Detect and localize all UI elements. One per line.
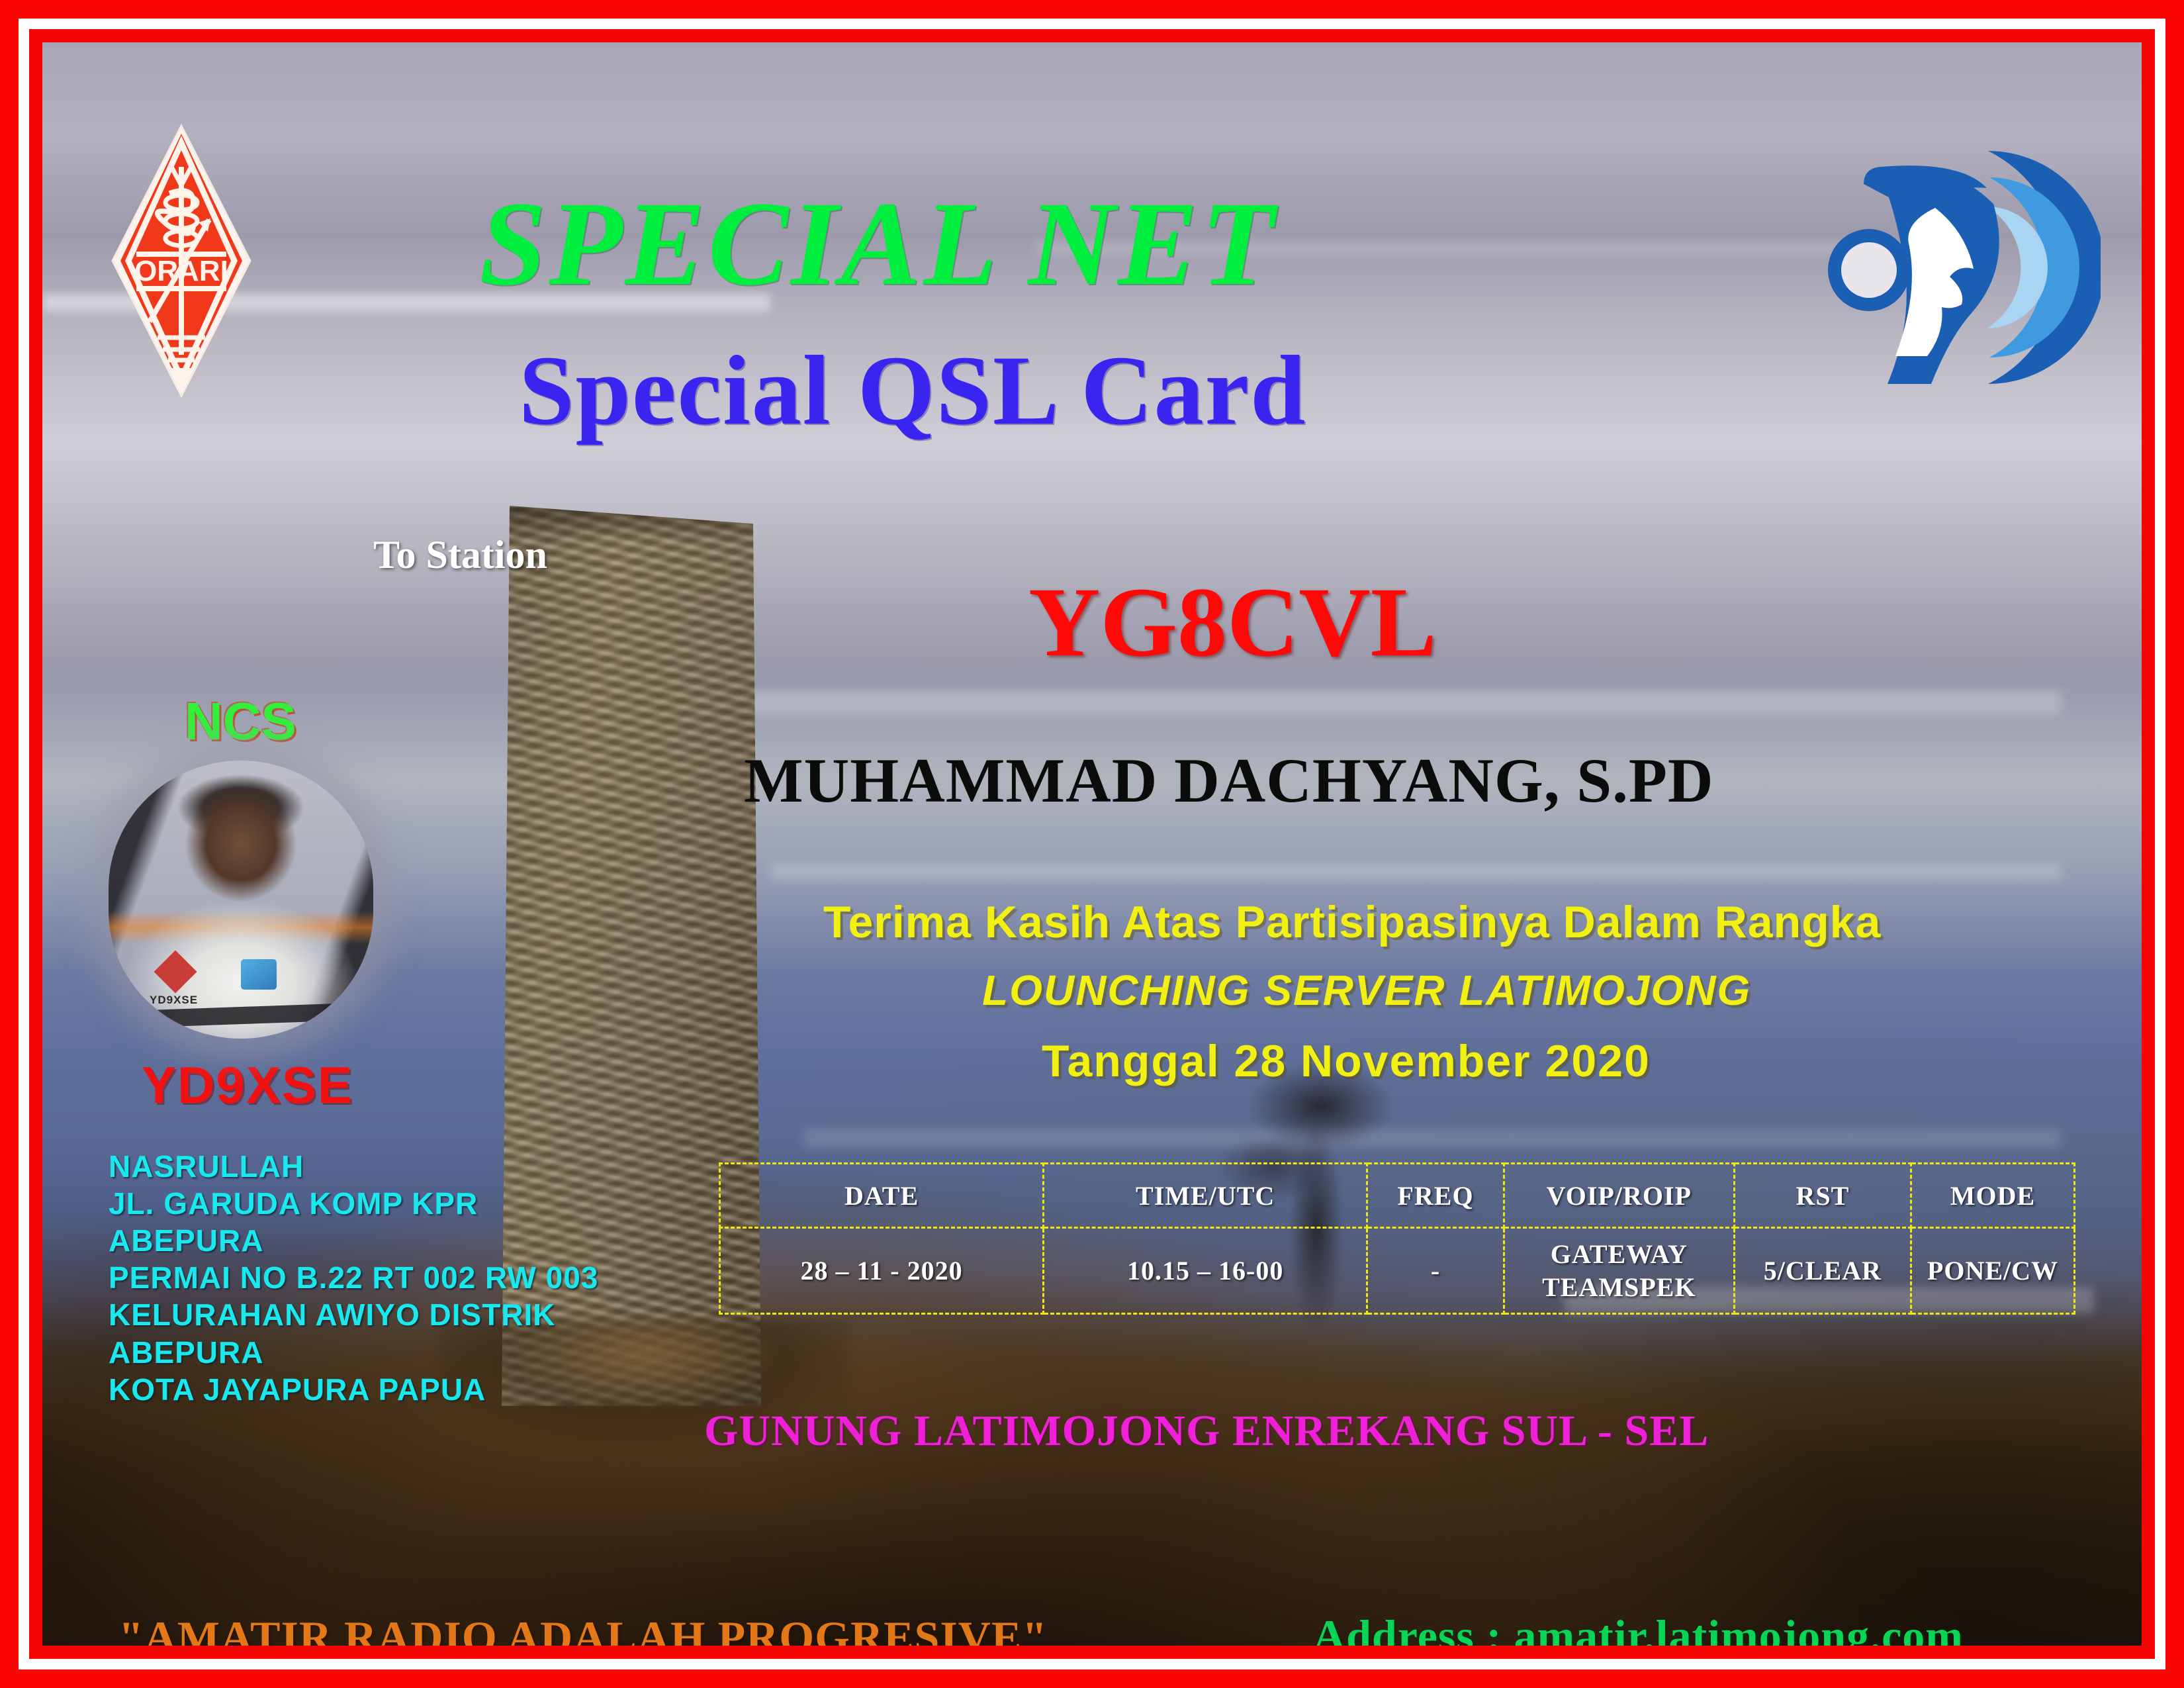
- address-line: NASRULLAH: [109, 1148, 598, 1185]
- card-border-inner-red: ORARI: [29, 29, 2155, 1659]
- location-label: GUNUNG LATIMOJONG ENREKANG SUL - SEL: [704, 1406, 1709, 1456]
- cell-voip-line1: GATEWAY: [1506, 1238, 1733, 1271]
- address-line: ABEPURA: [109, 1222, 598, 1259]
- qsl-card: ORARI: [0, 0, 2184, 1688]
- table-row: 28 – 11 - 2020 10.15 – 16-00 - GATEWAY T…: [720, 1228, 2075, 1314]
- address-line: PERMAI NO B.22 RT 002 RW 003: [109, 1259, 598, 1296]
- cell-mode: PONE/CW: [1911, 1228, 2074, 1314]
- table-header-date: DATE: [720, 1164, 1044, 1228]
- operator-name: MUHAMMAD DACHYANG, S.PD: [744, 744, 1714, 817]
- table-header-freq: FREQ: [1367, 1164, 1504, 1228]
- slogan-text: "AMATIR RADIO ADALAH PROGRESIVE": [118, 1611, 1048, 1646]
- table-header-time: TIME/UTC: [1044, 1164, 1367, 1228]
- thanks-line-2: LOUNCHING SERVER LATIMOJONG: [982, 966, 1751, 1015]
- ncs-label: NCS: [185, 691, 296, 752]
- operator-photo: YD9XSE: [109, 761, 373, 1039]
- address-line: KELURAHAN AWIYO DISTRIK: [109, 1296, 598, 1333]
- qso-table: DATE TIME/UTC FREQ VOIP/ROIP RST MODE 28…: [719, 1162, 2075, 1315]
- address-block: NASRULLAH JL. GARUDA KOMP KPR ABEPURA PE…: [109, 1148, 598, 1408]
- background-photo: ORARI: [42, 42, 2142, 1646]
- cell-voip-line2: TEAMSPEK: [1506, 1271, 1733, 1304]
- table-header-voip: VOIP/ROIP: [1504, 1164, 1734, 1228]
- voip-headset-logo: [1823, 128, 2101, 406]
- shirt-sash: [143, 1004, 342, 1027]
- cloud-streak: [671, 691, 2061, 714]
- web-address: Address : amatir.latimojong.com: [1313, 1610, 1964, 1646]
- cell-rst: 5/CLEAR: [1734, 1228, 1911, 1314]
- table-header-row: DATE TIME/UTC FREQ VOIP/ROIP RST MODE: [720, 1164, 2075, 1228]
- cloud-streak: [770, 863, 2061, 880]
- orari-logo: ORARI: [109, 122, 254, 400]
- card-border-white-gap: ORARI: [19, 19, 2165, 1669]
- shirt-callsign-text: YD9XSE: [150, 994, 198, 1007]
- to-station-label: To Station: [373, 532, 547, 578]
- thanks-line-3: Tanggal 28 November 2020: [1042, 1035, 1651, 1087]
- cell-freq: -: [1367, 1228, 1504, 1314]
- cell-voip: GATEWAY TEAMSPEK: [1504, 1228, 1734, 1314]
- address-line: JL. GARUDA KOMP KPR: [109, 1185, 598, 1222]
- table-header-mode: MODE: [1911, 1164, 2074, 1228]
- thanks-line-1: Terima Kasih Atas Partisipasinya Dalam R…: [823, 896, 1881, 948]
- ncs-callsign: YD9XSE: [142, 1055, 353, 1115]
- cell-date: 28 – 11 - 2020: [720, 1228, 1044, 1314]
- page-title: SPECIAL NET: [479, 175, 1277, 313]
- shirt-badge-icon: [241, 959, 277, 990]
- orari-logo-text: ORARI: [134, 255, 228, 287]
- address-line: KOTA JAYAPURA PAPUA: [109, 1371, 598, 1408]
- cell-time: 10.15 – 16-00: [1044, 1228, 1367, 1314]
- shirt-emblem-icon: [154, 950, 197, 993]
- table-header-rst: RST: [1734, 1164, 1911, 1228]
- page-subtitle: Special QSL Card: [519, 334, 1307, 447]
- address-line: ABEPURA: [109, 1334, 598, 1371]
- cloud-streak: [803, 1128, 2061, 1148]
- station-callsign: YG8CVL: [1028, 565, 1437, 679]
